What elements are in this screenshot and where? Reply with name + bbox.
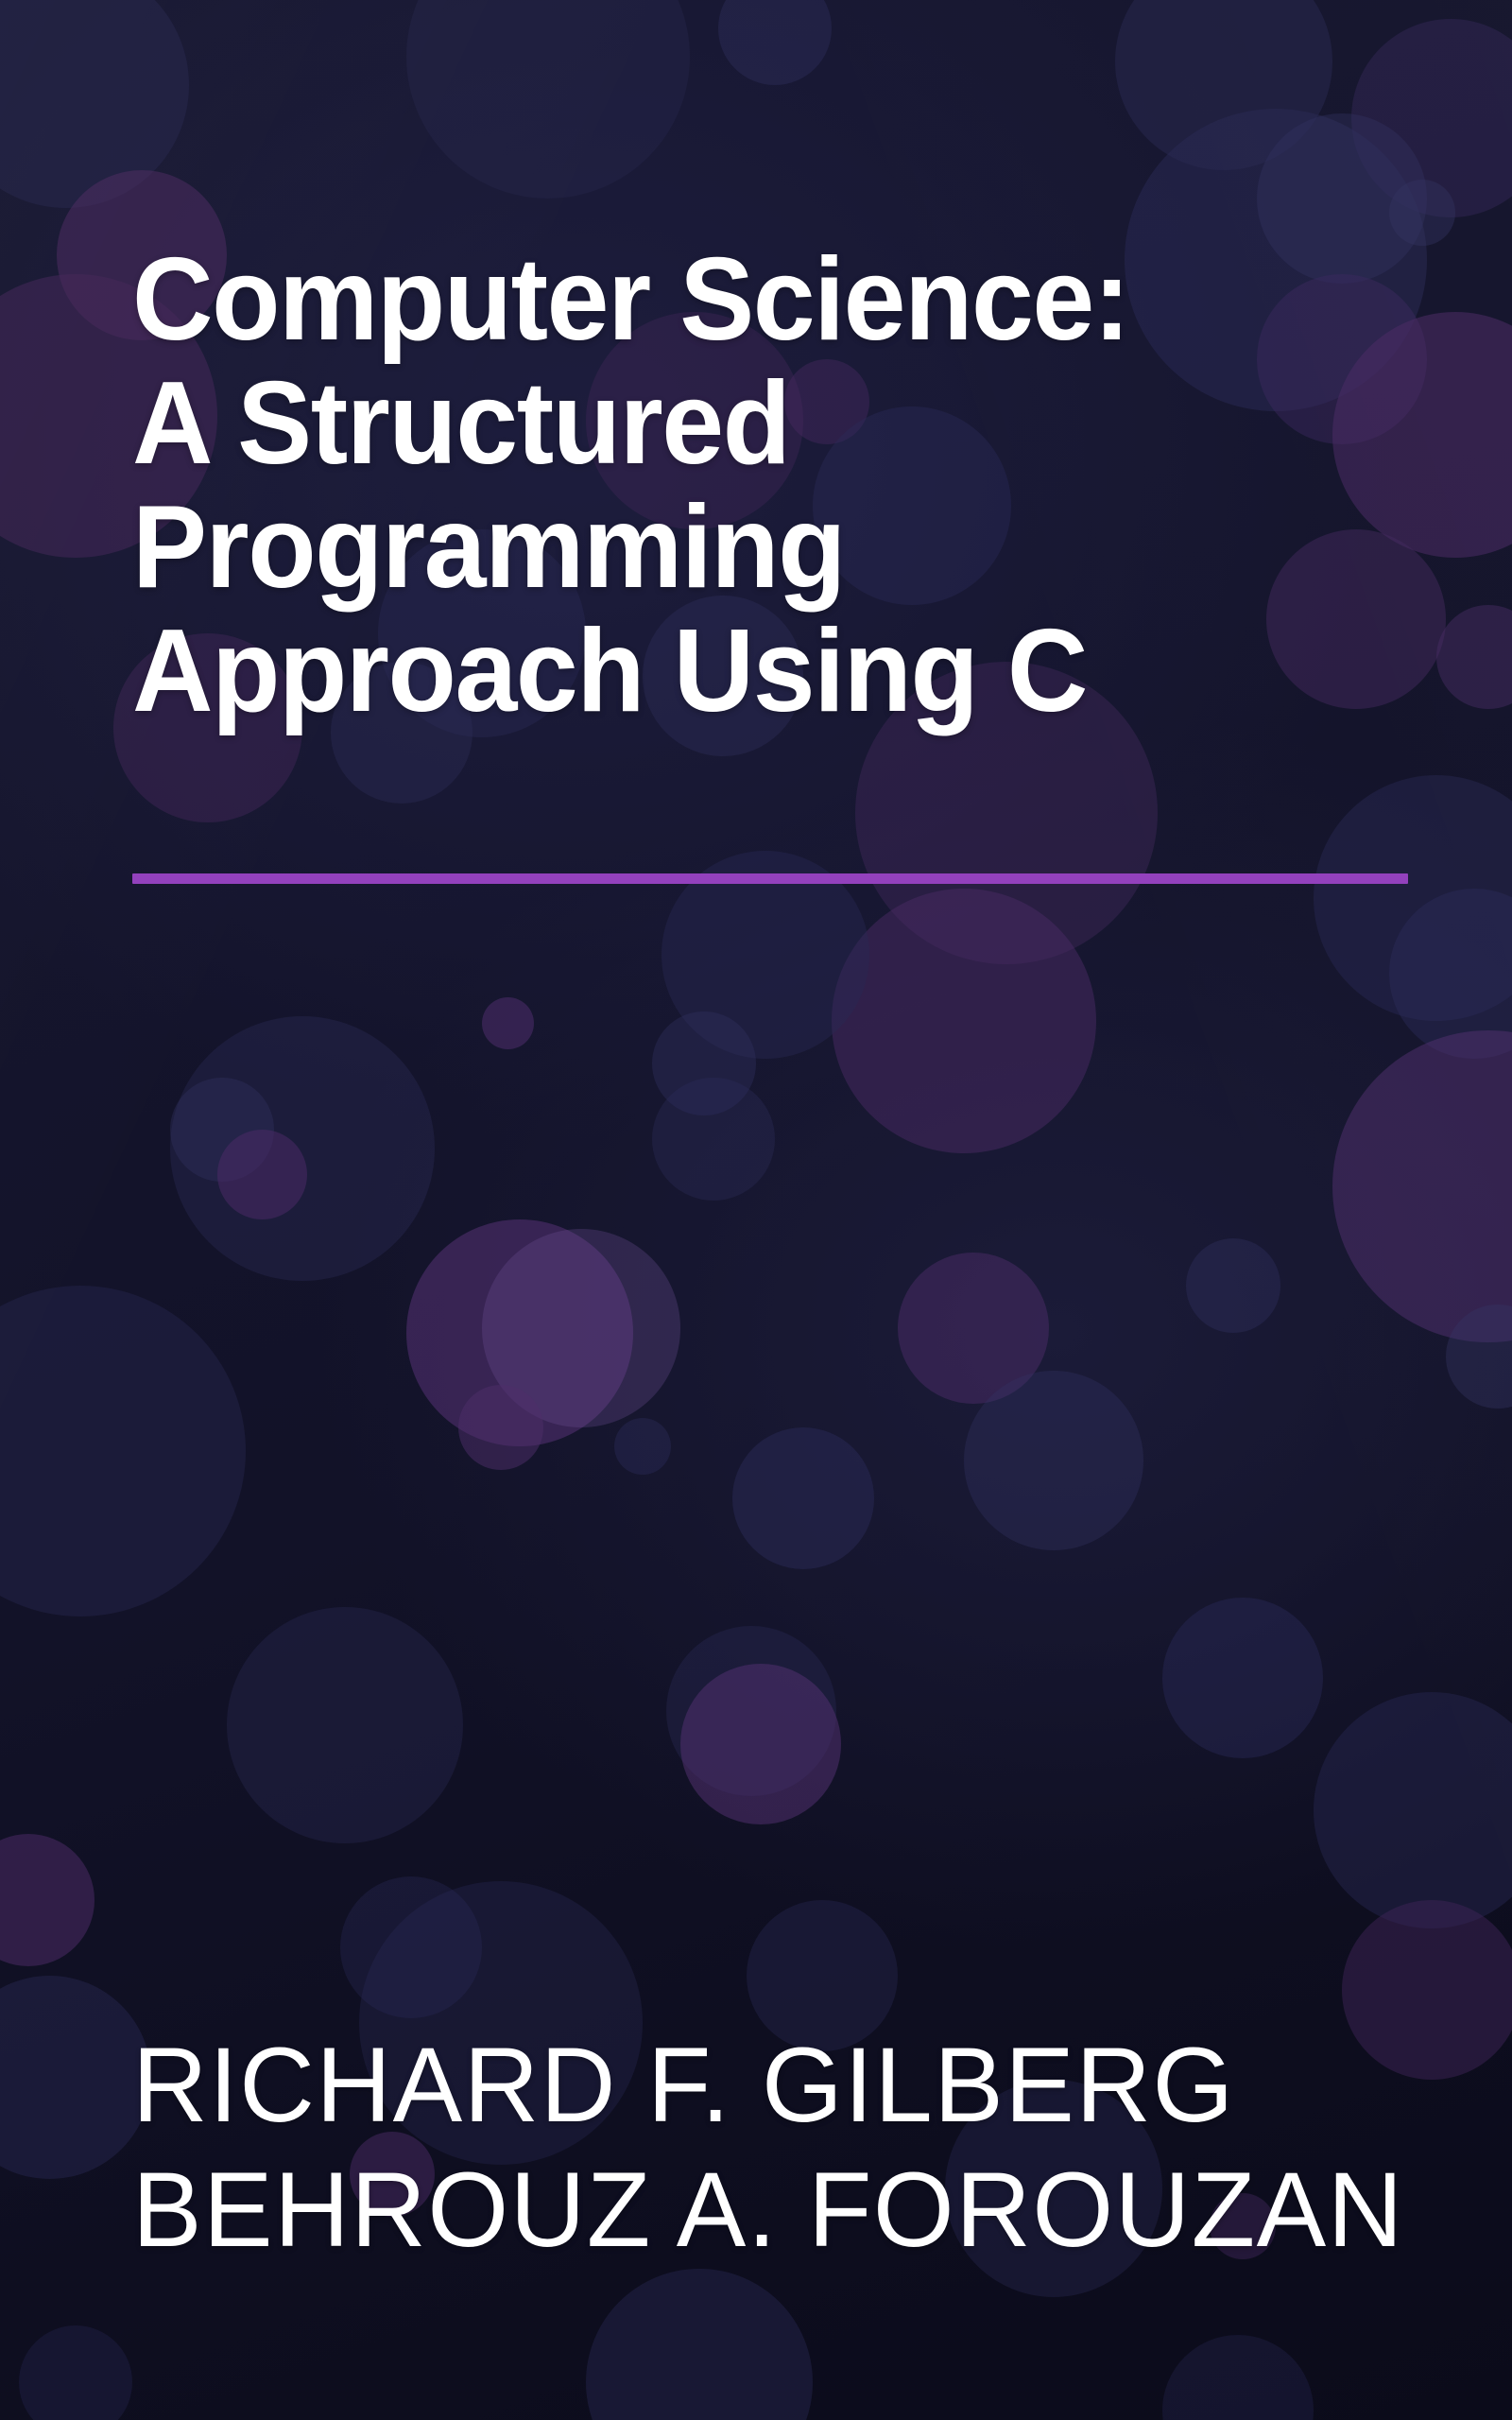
author-name-2: BEHROUZ A. FOROUZAN [132, 2148, 1435, 2273]
title-divider-rule [132, 873, 1408, 884]
book-cover: Computer Science: A Structured Programmi… [0, 0, 1512, 2420]
title-line-1: Computer Science: [132, 238, 1360, 362]
book-title: Computer Science: A Structured Programmi… [132, 238, 1417, 734]
title-line-2: A Structured [132, 362, 1360, 486]
cover-content: Computer Science: A Structured Programmi… [0, 0, 1512, 2420]
author-block: RICHARD F. GILBERG BEHROUZ A. FOROUZAN [132, 2023, 1455, 2273]
title-line-3: Programming [132, 486, 1360, 610]
title-line-4: Approach Using C [132, 610, 1360, 734]
author-name-1: RICHARD F. GILBERG [132, 2023, 1435, 2148]
